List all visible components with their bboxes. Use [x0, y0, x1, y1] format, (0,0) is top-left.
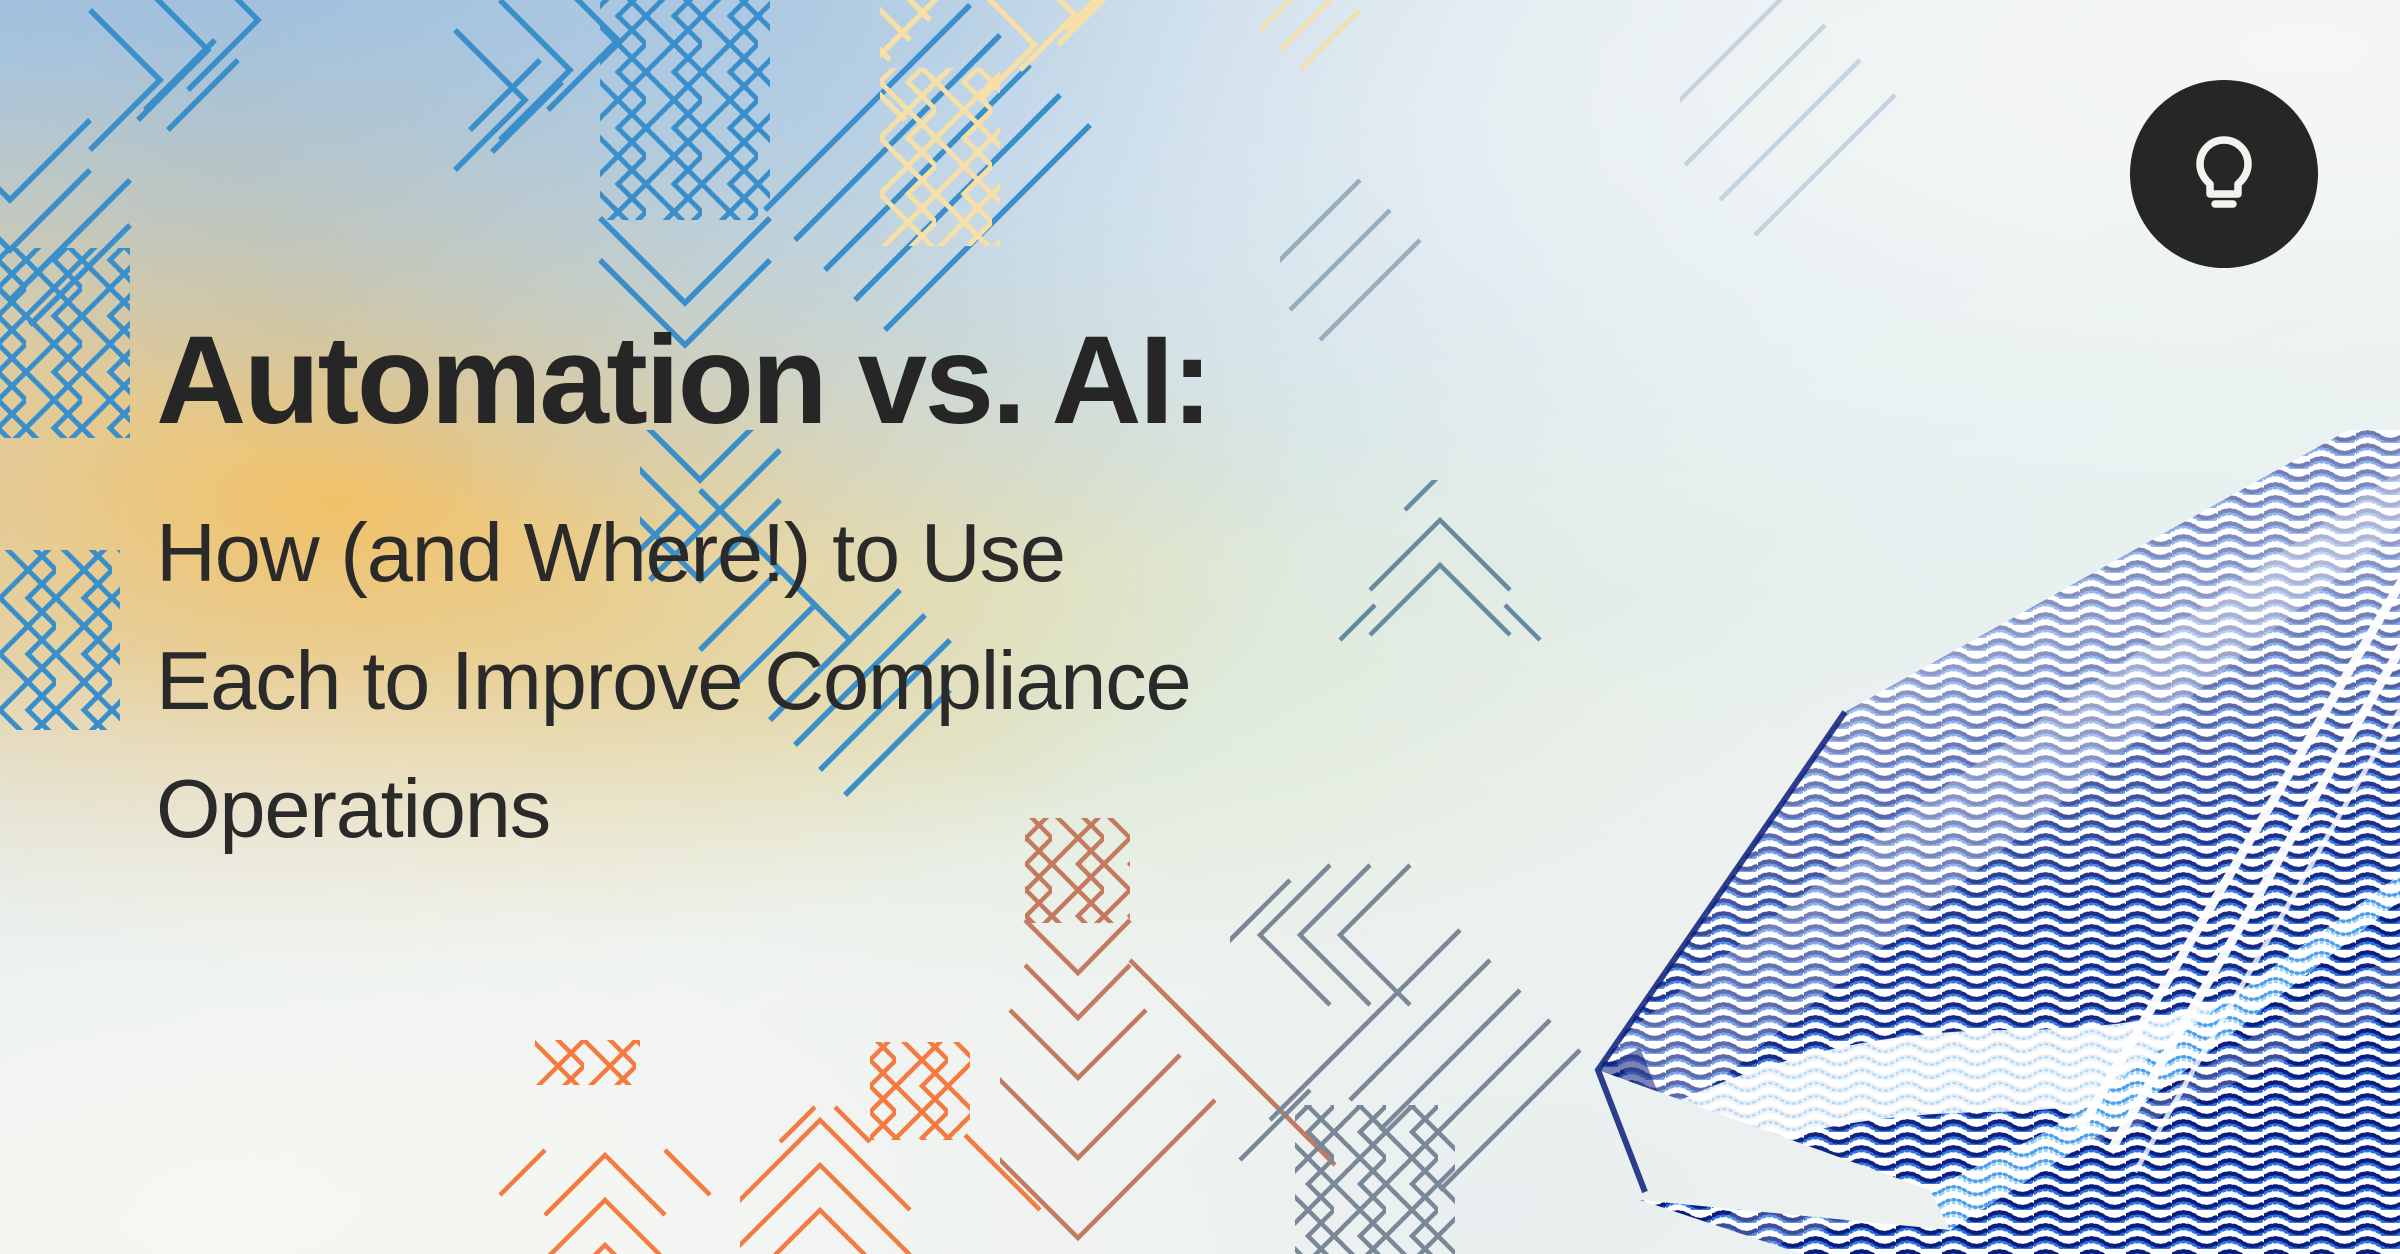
hero-banner: Automation vs. AI: How (and Where!) to U…: [0, 0, 2400, 1254]
lightbulb-icon: [2176, 124, 2272, 225]
headline-block: Automation vs. AI: How (and Where!) to U…: [156, 318, 1476, 873]
lightbulb-badge: [2130, 80, 2318, 268]
subtitle-line-2: Each to Improve Compliance: [156, 617, 1476, 745]
page-title: Automation vs. AI:: [156, 318, 1476, 443]
halftone-laptop-illustration: [1390, 430, 2400, 1254]
subtitle-line-1: How (and Where!) to Use: [156, 489, 1476, 617]
subtitle-line-3: Operations: [156, 745, 1476, 873]
